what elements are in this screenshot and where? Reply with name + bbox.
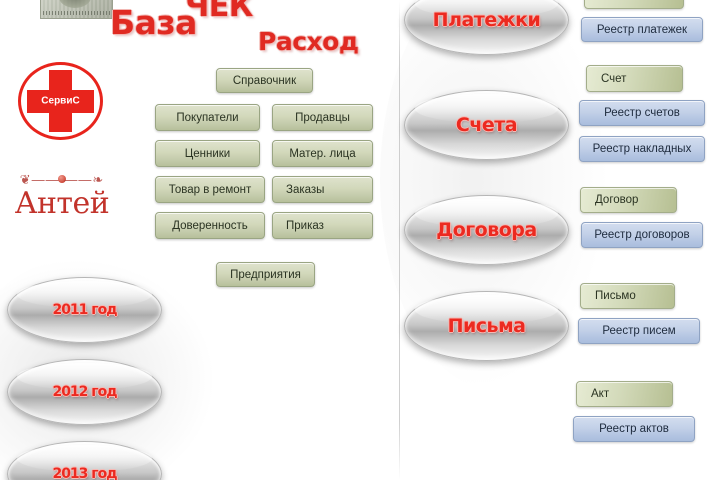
service-logo-label: СервиС — [18, 96, 103, 107]
service-cross-logo: СервиС — [18, 62, 103, 140]
section-oval-platezhki[interactable]: Платежки — [404, 0, 569, 55]
antey-logo-label: Антей — [8, 188, 116, 220]
section-oval-pisma-label: Письма — [448, 315, 526, 337]
button-pokupateli-label: Покупатели — [176, 112, 238, 124]
application-window: ЧЕК База Расход СервиС ❦—— ——❧ Антей 201… — [0, 0, 720, 480]
button-prikaz[interactable]: Приказ — [272, 212, 373, 239]
button-zakazy-label: Заказы — [286, 184, 324, 196]
section-oval-scheta[interactable]: Счета — [404, 90, 569, 160]
button-zakazy[interactable]: Заказы — [272, 176, 373, 203]
button-schet[interactable]: Счет — [586, 65, 683, 92]
section-oval-pisma[interactable]: Письма — [404, 291, 569, 361]
button-reestr-dogovorov-label: Реестр договоров — [594, 229, 689, 241]
button-reestr-platezhek[interactable]: Реестр платежек — [581, 17, 703, 42]
button-predpriyatiya-label: Предприятия — [230, 269, 301, 281]
button-tovar-v-remont-label: Товар в ремонт — [169, 184, 252, 196]
year-oval-2013[interactable]: 2013 год — [7, 441, 162, 480]
button-platezhka-label: Платежка — [599, 0, 651, 2]
section-oval-dogovora-label: Договора — [436, 219, 536, 241]
button-spravochnik-label: Справочник — [233, 75, 296, 87]
button-prodavtsy[interactable]: Продавцы — [272, 104, 373, 131]
year-oval-2013-label: 2013 год — [52, 466, 116, 480]
section-oval-platezhki-label: Платежки — [433, 9, 541, 31]
button-reestr-dogovorov[interactable]: Реестр договоров — [581, 222, 703, 248]
title-baza: База — [110, 3, 197, 42]
button-reestr-aktov-label: Реестр актов — [599, 423, 669, 435]
button-reestr-pisem-label: Реестр писем — [602, 325, 675, 337]
title-rashod: Расход — [258, 27, 359, 56]
button-doverennost[interactable]: Доверенность — [155, 212, 265, 239]
button-pismo-label: Письмо — [595, 290, 636, 302]
button-mater-litsa-label: Матер. лица — [289, 148, 355, 160]
button-dogovor-label: Договор — [595, 194, 638, 206]
button-schet-label: Счет — [601, 73, 626, 85]
year-oval-2012-label: 2012 год — [52, 384, 116, 400]
antey-ornament-icon: ❦—— ——❧ — [8, 172, 116, 188]
antey-logo: ❦—— ——❧ Антей — [8, 172, 116, 220]
year-oval-2012[interactable]: 2012 год — [7, 359, 162, 425]
button-reestr-nakladnyh[interactable]: Реестр накладных — [579, 136, 705, 162]
button-reestr-aktov[interactable]: Реестр актов — [573, 416, 695, 442]
button-spravochnik[interactable]: Справочник — [216, 68, 313, 93]
dollar-bill-icon — [40, 0, 113, 19]
button-dogovor[interactable]: Договор — [580, 187, 677, 213]
button-pismo[interactable]: Письмо — [580, 283, 675, 309]
button-akt-label: Акт — [591, 388, 609, 400]
button-doverennost-label: Доверенность — [172, 220, 248, 232]
button-platezhka[interactable]: Платежка — [584, 0, 684, 9]
button-reestr-schetov-label: Реестр счетов — [604, 107, 680, 119]
button-pokupateli[interactable]: Покупатели — [155, 104, 260, 131]
button-akt[interactable]: Акт — [576, 381, 673, 407]
button-reestr-platezhek-label: Реестр платежек — [597, 24, 687, 36]
section-oval-dogovora[interactable]: Договора — [404, 195, 569, 265]
button-reestr-schetov[interactable]: Реестр счетов — [579, 100, 705, 126]
button-predpriyatiya[interactable]: Предприятия — [216, 262, 315, 287]
button-prikaz-label: Приказ — [286, 220, 324, 232]
button-reestr-pisem[interactable]: Реестр писем — [578, 318, 700, 344]
button-mater-litsa[interactable]: Матер. лица — [272, 140, 373, 167]
section-oval-scheta-label: Счета — [456, 114, 517, 136]
button-tsenniki[interactable]: Ценники — [155, 140, 260, 167]
year-oval-2011[interactable]: 2011 год — [7, 277, 162, 343]
column-divider — [399, 0, 400, 480]
year-oval-2011-label: 2011 год — [52, 302, 116, 318]
button-tsenniki-label: Ценники — [185, 148, 230, 160]
button-tovar-v-remont[interactable]: Товар в ремонт — [155, 176, 265, 203]
button-reestr-nakladnyh-label: Реестр накладных — [593, 143, 692, 155]
button-prodavtsy-label: Продавцы — [295, 112, 350, 124]
